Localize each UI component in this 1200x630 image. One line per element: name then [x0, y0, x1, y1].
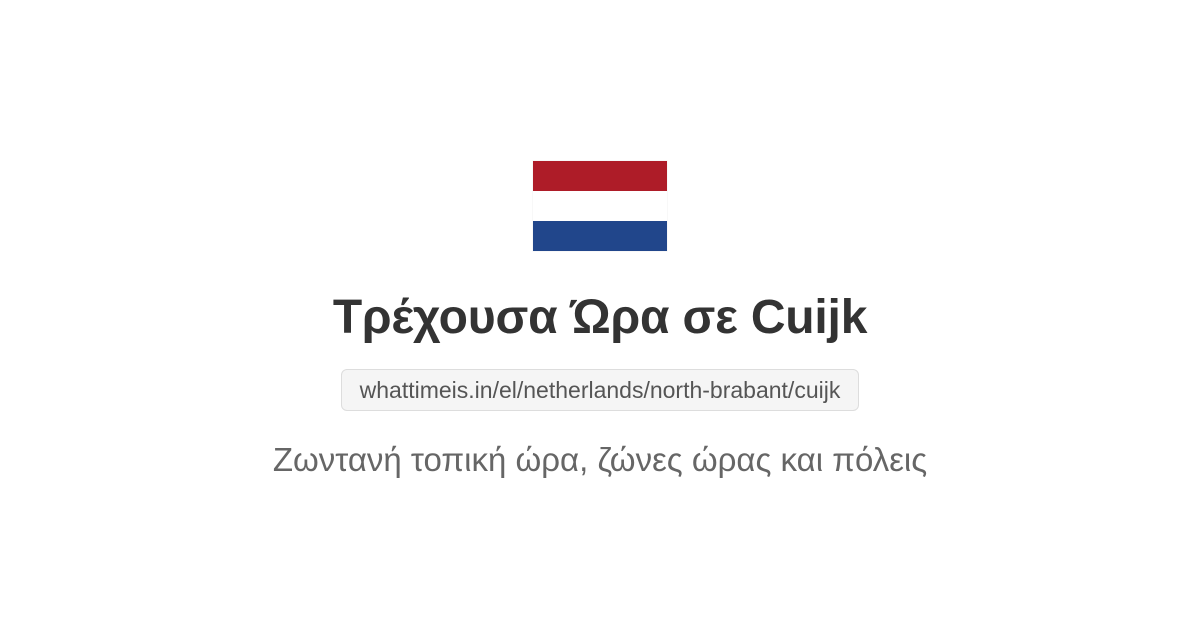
flag-container: [533, 161, 667, 251]
share-card: Τρέχουσα Ώρα σε Cuijk whattimeis.in/el/n…: [0, 0, 1200, 630]
flag-blue-stripe: [533, 221, 667, 251]
page-title: Τρέχουσα Ώρα σε Cuijk: [333, 289, 867, 347]
flag-red-stripe: [533, 161, 667, 191]
url-display: whattimeis.in/el/netherlands/north-braba…: [341, 369, 860, 411]
flag-white-stripe: [533, 191, 667, 221]
netherlands-flag-icon: [533, 161, 667, 251]
page-subtitle: Ζωντανή τοπική ώρα, ζώνες ώρας και πόλει…: [273, 439, 927, 481]
url-text: whattimeis.in/el/netherlands/north-braba…: [360, 370, 841, 410]
